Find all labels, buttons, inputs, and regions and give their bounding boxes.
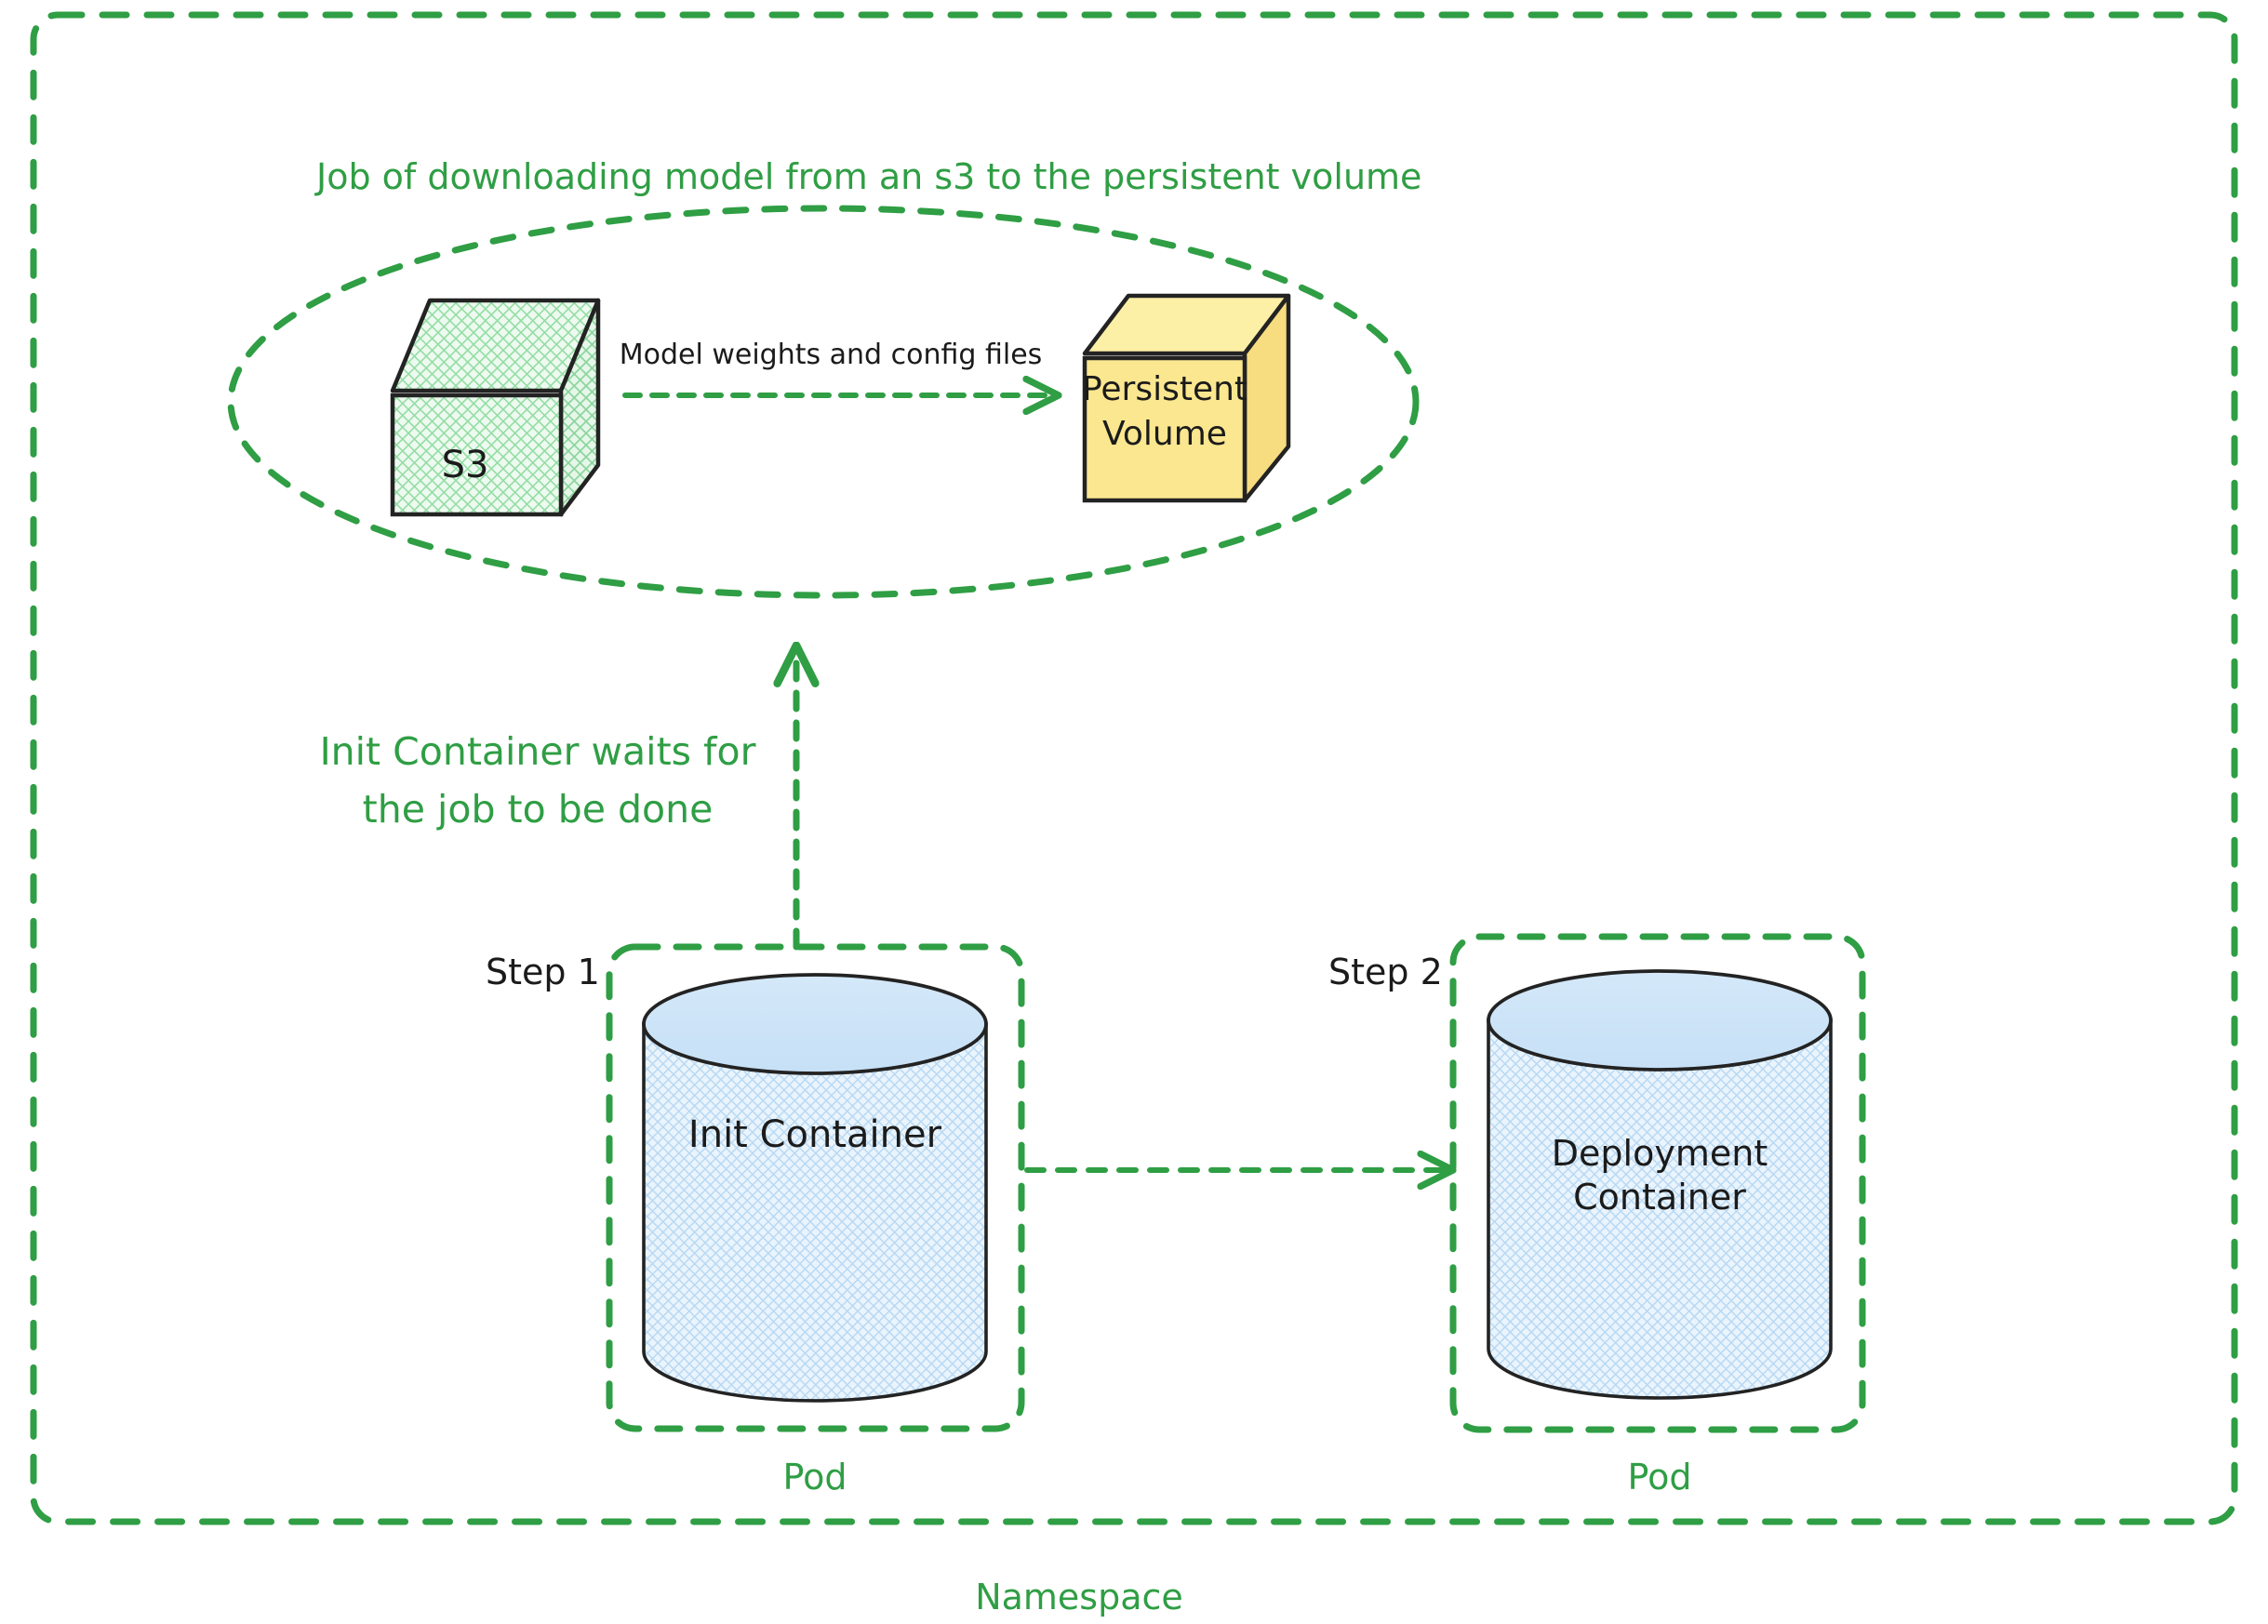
init-container-body [644,1024,986,1401]
deployment-container-top-cap [1488,971,1831,1070]
pv-cube-label-line2: Volume [1102,415,1227,453]
init-wait-label-line2: the job to be done [363,787,714,832]
s3-cube-label: S3 [442,444,489,486]
deployment-container-label-line2: Container [1573,1177,1746,1218]
deployment-container-cylinder: Deployment Container [1488,971,1831,1398]
init-container-cylinder: Init Container [644,975,986,1401]
pv-cube-label-line1: Persistent [1082,370,1247,408]
pod-1-label: Pod [783,1457,847,1498]
architecture-diagram: Namespace Job of downloading model from … [0,0,2268,1624]
step-2-label: Step 2 [1328,952,1443,992]
init-container-label: Init Container [688,1113,942,1156]
deployment-container-label-line1: Deployment [1552,1133,1768,1174]
init-wait-label-line1: Init Container waits for [320,729,756,774]
step-1-label: Step 1 [486,952,600,992]
namespace-label: Namespace [975,1577,1183,1617]
job-caption: Job of downloading model from an s3 to t… [314,156,1421,197]
pod-2-label: Pod [1628,1457,1692,1498]
transfer-arrow-label: Model weights and config files [620,339,1043,371]
persistent-volume-cube: Persistent Volume [1082,296,1288,500]
init-container-top-cap [644,975,986,1073]
diagram-canvas: Namespace Job of downloading model from … [0,0,2268,1624]
s3-cube: S3 [393,300,598,514]
